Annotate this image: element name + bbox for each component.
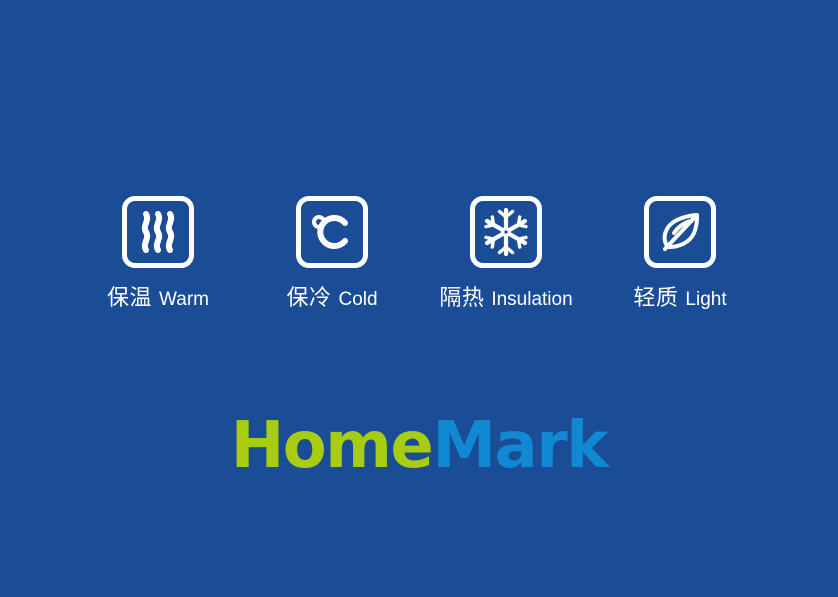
feature-label-en: Light [685, 290, 726, 309]
feature-label-light: 轻质 Light [633, 288, 726, 310]
celsius-degree-icon [296, 196, 368, 268]
feature-label-cn: 保冷 [286, 288, 331, 310]
brand-logo: HomeMark [0, 414, 838, 478]
logo-text-mark: Mark [432, 409, 607, 483]
feature-label-warm: 保温 Warm [107, 288, 209, 310]
feature-label-en: Cold [338, 290, 377, 309]
logo-text-home: Home [231, 409, 433, 483]
feature-item-insulation[interactable]: 隔热 Insulation [419, 196, 593, 310]
feature-label-en: Insulation [491, 290, 572, 309]
poster-canvas: 保温 Warm 保冷 Cold [0, 0, 838, 597]
feature-label-cn: 隔热 [439, 288, 484, 310]
feature-label-cold: 保冷 Cold [286, 288, 377, 310]
feature-label-en: Warm [159, 290, 209, 309]
feature-label-cn: 轻质 [633, 288, 678, 310]
feature-icon-row: 保温 Warm 保冷 Cold [0, 196, 838, 310]
feather-leaf-icon [644, 196, 716, 268]
feature-item-warm[interactable]: 保温 Warm [71, 196, 245, 310]
feature-item-light[interactable]: 轻质 Light [593, 196, 767, 310]
heat-waves-icon [122, 196, 194, 268]
feature-label-cn: 保温 [107, 288, 152, 310]
feature-item-cold[interactable]: 保冷 Cold [245, 196, 419, 310]
feature-label-insulation: 隔热 Insulation [439, 288, 572, 310]
snowflake-icon [470, 196, 542, 268]
